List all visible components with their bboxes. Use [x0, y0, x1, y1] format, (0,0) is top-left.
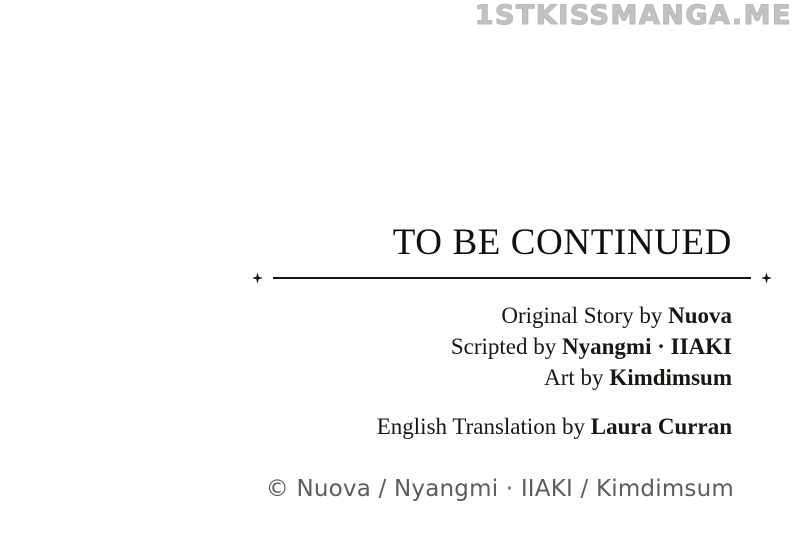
credit-name: Nuova — [668, 303, 732, 328]
credit-name: Kimdimsum — [609, 365, 732, 390]
credit-line: Art by Kimdimsum — [0, 362, 732, 393]
credit-role: Original Story by — [501, 303, 668, 328]
credit-name: Laura Curran — [591, 414, 732, 439]
title-block: TO BE CONTINUED — [0, 222, 800, 264]
copyright-notice: © Nuova / Nyangmi · IIAKI / Kimdimsum — [0, 474, 734, 504]
divider-line — [273, 277, 751, 279]
credit-line: English Translation by Laura Curran — [0, 411, 732, 442]
four-pointed-star-icon-left — [252, 273, 263, 284]
credits-block: Original Story by Nuova Scripted by Nyan… — [0, 300, 732, 442]
four-pointed-star-icon-right — [761, 273, 772, 284]
ornamental-divider — [252, 271, 772, 285]
credit-name: Nyangmi · IIAKI — [562, 334, 732, 359]
credit-role: Scripted by — [451, 334, 562, 359]
credit-role: English Translation by — [377, 414, 591, 439]
credit-line: Original Story by Nuova — [0, 300, 732, 331]
credit-role: Art by — [544, 365, 609, 390]
site-watermark: 1STKISSMANGA.ME — [475, 1, 792, 31]
credit-line: Scripted by Nyangmi · IIAKI — [0, 331, 732, 362]
to-be-continued-title: TO BE CONTINUED — [0, 222, 800, 264]
comic-end-page: 1STKISSMANGA.ME TO BE CONTINUED Original… — [0, 0, 800, 541]
